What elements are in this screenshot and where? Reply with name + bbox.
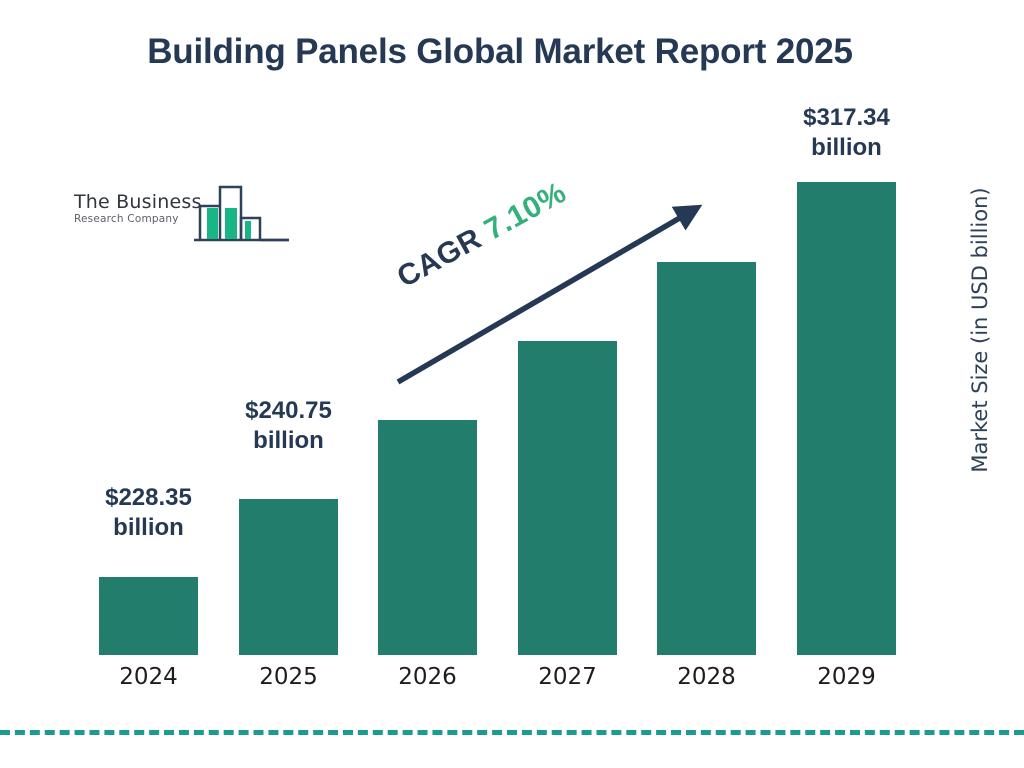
footer-divider <box>0 730 1024 735</box>
y-axis-title: Market Size (in USD billion) <box>968 180 992 480</box>
bar-chart: $228.35 billion $240.75 billion $317.34 … <box>0 0 1024 768</box>
chart-page: Building Panels Global Market Report 202… <box>0 0 1024 768</box>
growth-arrow <box>0 0 1024 768</box>
